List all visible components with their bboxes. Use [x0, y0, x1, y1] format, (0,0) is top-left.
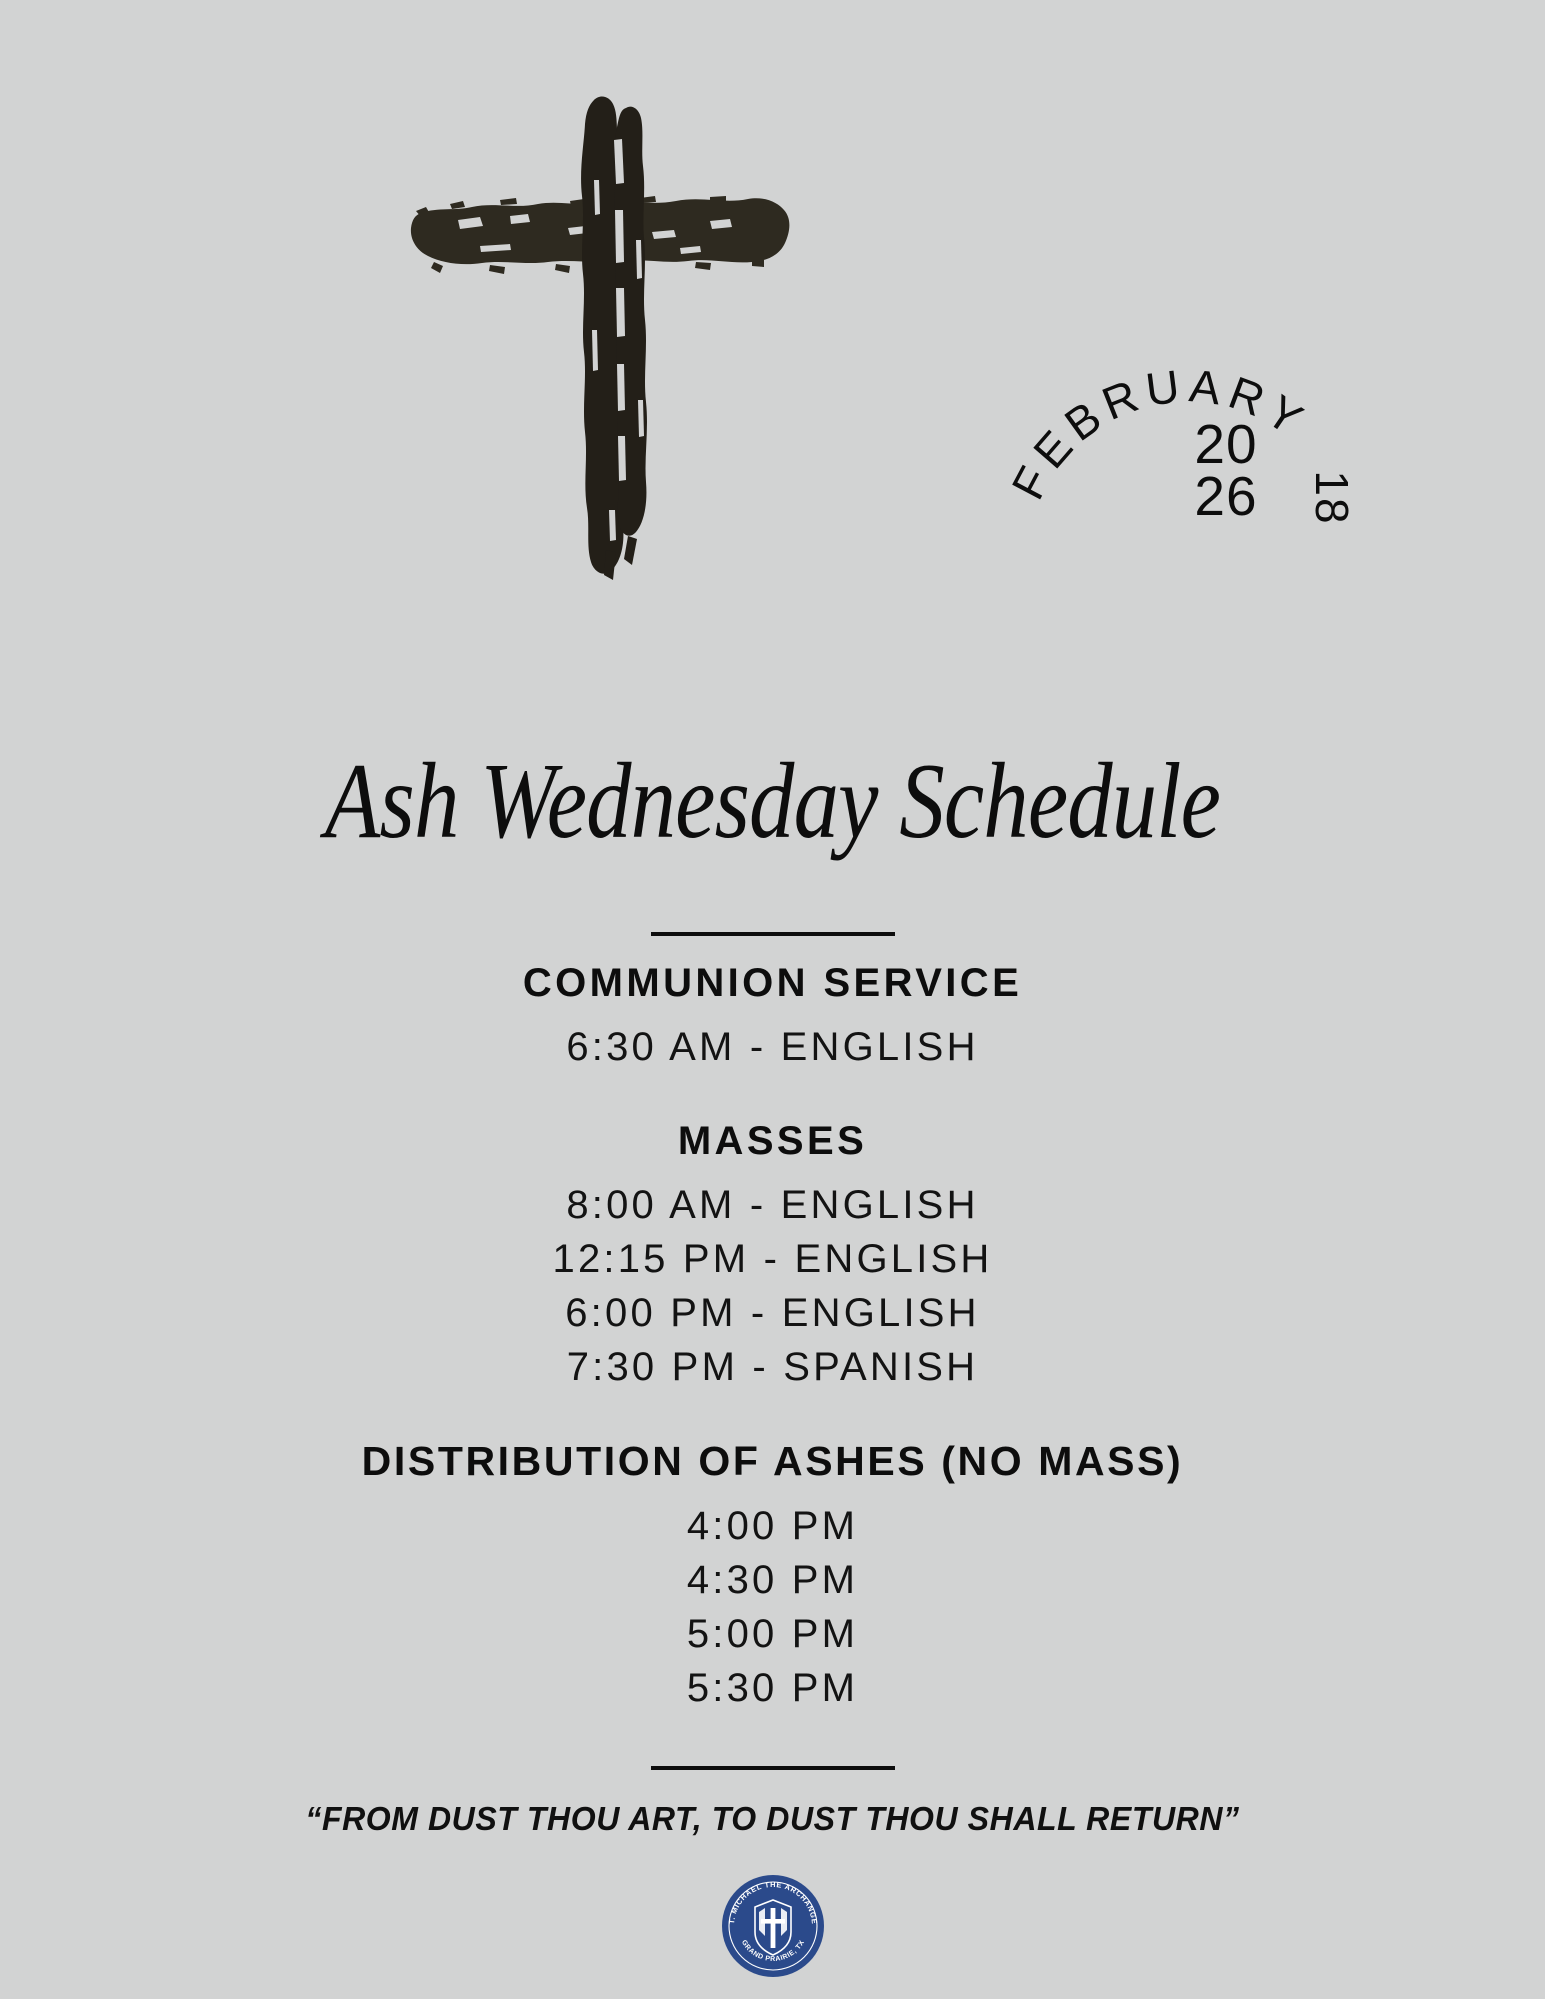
schedule-item: 7:30 PM - SPANISH: [0, 1340, 1545, 1394]
schedule-item: 4:00 PM: [0, 1499, 1545, 1553]
page-title: Ash Wednesday Schedule: [124, 740, 1422, 864]
section-heading: COMMUNION SERVICE: [0, 960, 1545, 1006]
schedule-section-masses: MASSES 8:00 AM - ENGLISH 12:15 PM - ENGL…: [0, 1118, 1545, 1394]
badge-day-text: 18: [1306, 470, 1358, 525]
section-heading: MASSES: [0, 1118, 1545, 1164]
divider-top: [651, 932, 895, 936]
schedule-item: 6:00 PM - ENGLISH: [0, 1286, 1545, 1340]
divider-bottom: [651, 1766, 895, 1770]
badge-year: 20 26: [1166, 418, 1286, 523]
schedule-item: 6:30 AM - ENGLISH: [0, 1020, 1545, 1074]
schedule-item: 5:00 PM: [0, 1607, 1545, 1661]
schedule-item: 4:30 PM: [0, 1553, 1545, 1607]
schedule-list: COMMUNION SERVICE 6:30 AM - ENGLISH MASS…: [0, 960, 1545, 1715]
date-badge: FEBRUARY 18 20 26: [1018, 330, 1358, 580]
parish-seal-icon: ST. MICHAEL THE ARCHANGEL GRAND PRAIRIE,…: [721, 1874, 825, 1978]
schedule-item: 12:15 PM - ENGLISH: [0, 1232, 1545, 1286]
scripture-quote: “FROM DUST THOU ART, TO DUST THOU SHALL …: [23, 1800, 1522, 1838]
schedule-section-communion-service: COMMUNION SERVICE 6:30 AM - ENGLISH: [0, 960, 1545, 1074]
ash-cross-brushstroke-icon: [380, 80, 860, 590]
ash-wednesday-poster: FEBRUARY 18 20 26 Ash Wednesday Schedule…: [0, 0, 1545, 1999]
schedule-item: 5:30 PM: [0, 1661, 1545, 1715]
schedule-section-distribution-of-ashes: DISTRIBUTION OF ASHES (NO MASS) 4:00 PM …: [0, 1438, 1545, 1715]
badge-year-top: 20: [1166, 418, 1286, 470]
schedule-item: 8:00 AM - ENGLISH: [0, 1178, 1545, 1232]
badge-year-bottom: 26: [1166, 470, 1286, 522]
shield-with-cross-emblem: [755, 1900, 791, 1955]
section-heading: DISTRIBUTION OF ASHES (NO MASS): [0, 1438, 1545, 1485]
